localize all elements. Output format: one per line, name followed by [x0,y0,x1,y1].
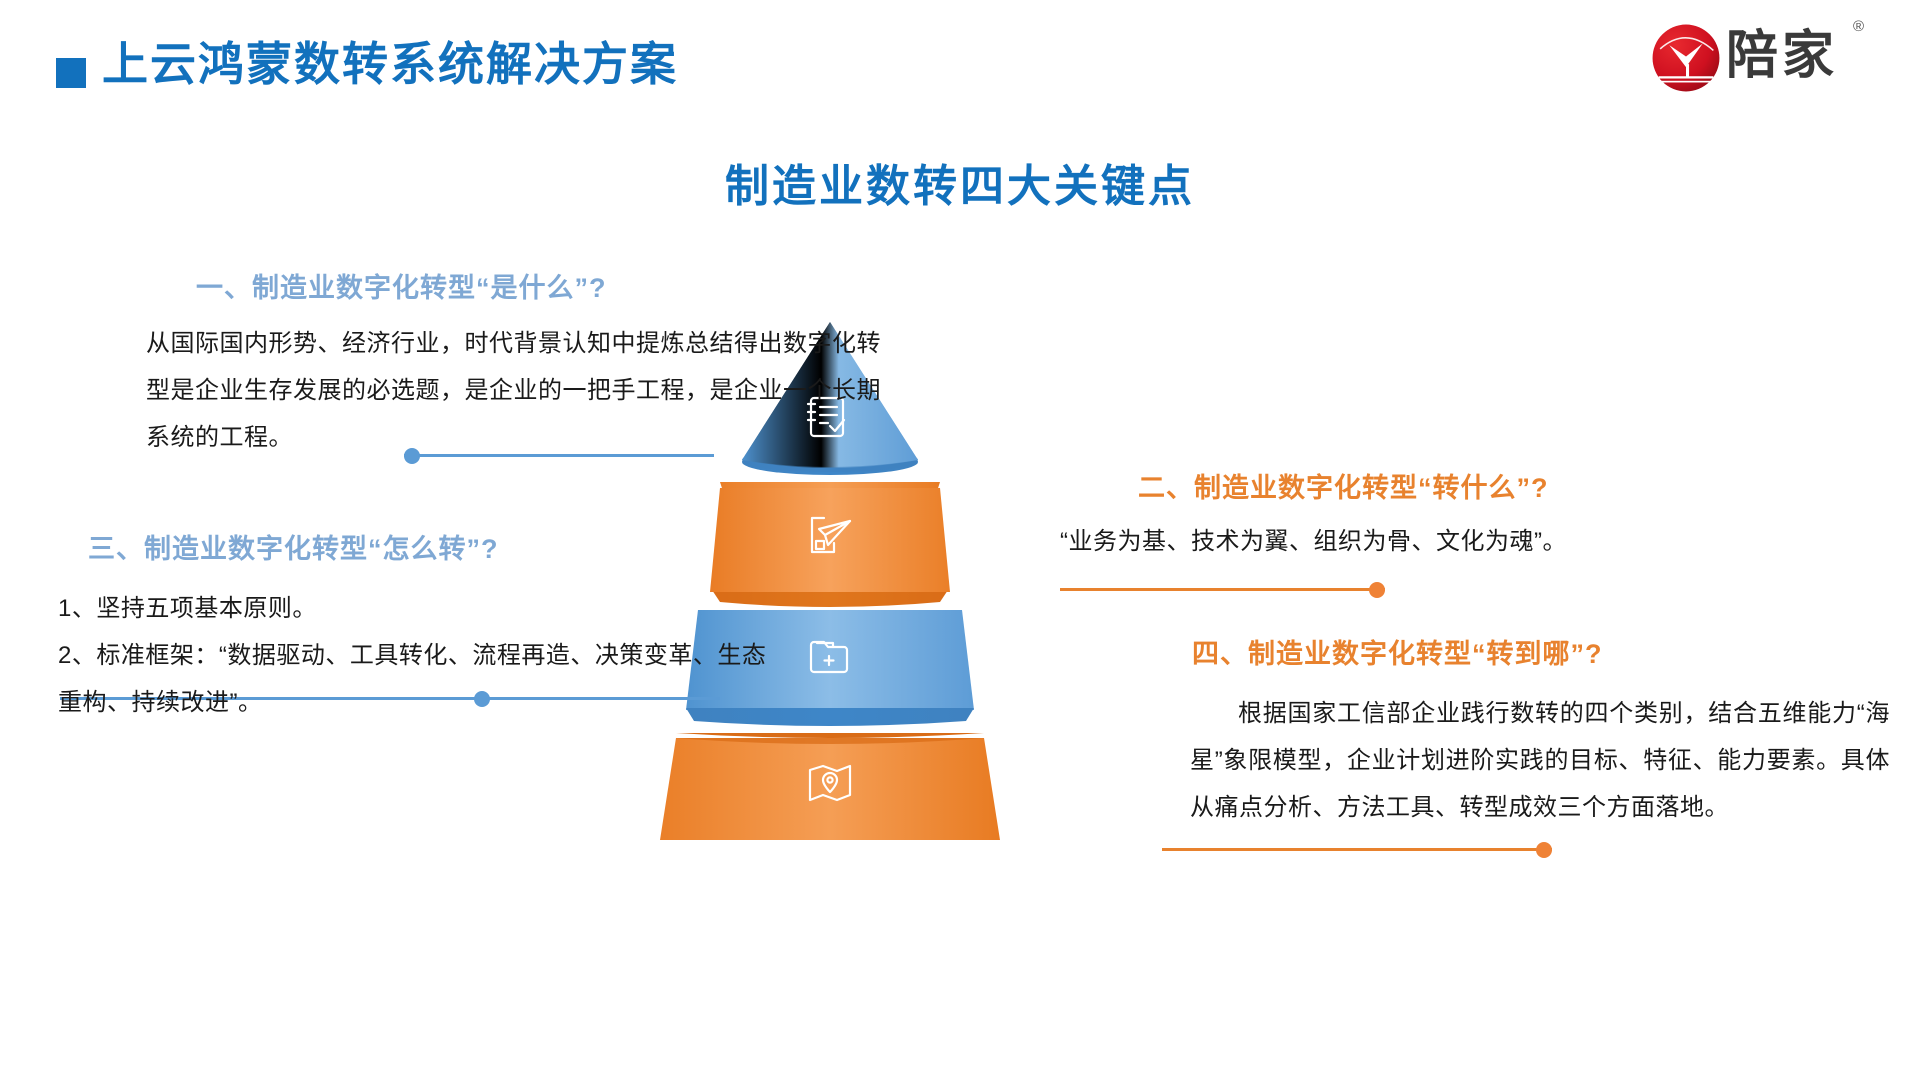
connector-dot-4 [1536,842,1552,858]
main-title: 制造业数转四大关键点 [0,150,1920,214]
connector-line-2 [1060,588,1385,591]
pyramid-tier-4 [660,733,1000,840]
slide-header: 上云鸿蒙数转系统解决方案 [0,0,1920,140]
header-bullet-icon [56,58,86,88]
page-title: 上云鸿蒙数转系统解决方案 [102,38,678,91]
connector-line-4 [1162,848,1552,851]
company-logo: 陪家 ® [1648,8,1868,104]
section-4-heading: 四、制造业数字化转型“转到哪”? [1192,632,1603,671]
section-4-body: 根据国家工信部企业践行数转的四个类别，结合五维能力“海星”象限模型，企业计划进阶… [1190,690,1890,831]
registered-mark-icon: ® [1853,18,1864,35]
connector-dot-2 [1369,582,1385,598]
section-3-heading: 三、制造业数字化转型“怎么转”? [88,527,499,566]
section-2-body: “业务为基、技术为翼、组织为骨、文化为魂”。 [1060,518,1850,565]
section-2-heading: 二、制造业数字化转型“转什么”? [1138,466,1549,505]
section-1-heading: 一、制造业数字化转型“是什么”? [196,266,607,305]
section-1-body: 从国际国内形势、经济行业，时代背景认知中提炼总结得出数字化转型是企业生存发展的必… [146,320,886,461]
logo-wordmark: 陪家 [1726,14,1838,100]
section-3-body: 1、坚持五项基本原则。 2、标准框架：“数据驱动、工具转化、流程再造、决策变革、… [58,585,788,726]
logo-bird-mark-icon [1648,20,1724,96]
